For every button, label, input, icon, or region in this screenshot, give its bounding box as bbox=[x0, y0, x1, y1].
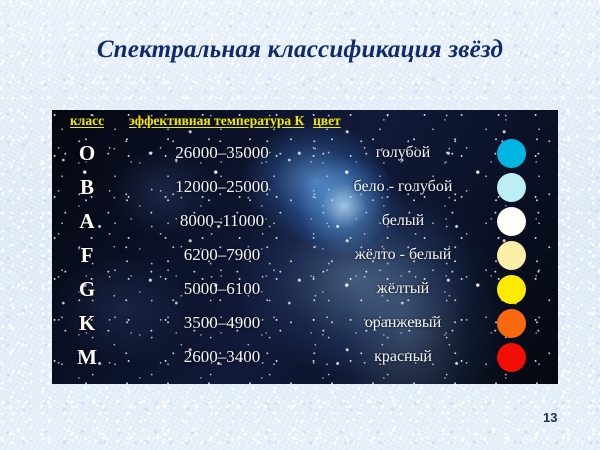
cell-class: K bbox=[52, 306, 122, 340]
spectral-classification-table: класс эффективная температура К цвет O 2… bbox=[52, 110, 558, 384]
cell-color-name: голубой bbox=[318, 136, 488, 170]
cell-temperature: 26000–35000 bbox=[122, 136, 322, 170]
cell-color-name: жёлтый bbox=[318, 272, 488, 306]
cell-color-name: оранжевый bbox=[318, 306, 488, 340]
cell-color-swatch bbox=[492, 340, 532, 374]
cell-color-swatch bbox=[492, 272, 532, 306]
table-row: F 6200–7900 жёлто - белый bbox=[52, 238, 558, 272]
color-swatch-circle bbox=[497, 241, 526, 270]
cell-temperature: 5000–6100 bbox=[122, 272, 322, 306]
cell-color-swatch bbox=[492, 136, 532, 170]
cell-class: M bbox=[52, 340, 122, 374]
header-color: цвет bbox=[313, 113, 341, 129]
cell-temperature: 6200–7900 bbox=[122, 238, 322, 272]
color-swatch-circle bbox=[497, 173, 526, 202]
color-swatch-circle bbox=[497, 139, 526, 168]
cell-temperature: 8000–11000 bbox=[122, 204, 322, 238]
color-swatch-circle bbox=[497, 207, 526, 236]
cell-color-swatch bbox=[492, 306, 532, 340]
table-row: A 8000–11000 белый bbox=[52, 204, 558, 238]
cell-temperature: 2600–3400 bbox=[122, 340, 322, 374]
cell-color-name: белый bbox=[318, 204, 488, 238]
table-row: G 5000–6100 жёлтый bbox=[52, 272, 558, 306]
table-row: M 2600–3400 красный bbox=[52, 340, 558, 374]
cell-class: A bbox=[52, 204, 122, 238]
page-number: 13 bbox=[543, 410, 557, 425]
table-row: O 26000–35000 голубой bbox=[52, 136, 558, 170]
table-row: B 12000–25000 бело - голубой bbox=[52, 170, 558, 204]
color-swatch-circle bbox=[497, 343, 526, 372]
cell-class: G bbox=[52, 272, 122, 306]
table-header-row: класс эффективная температура К цвет bbox=[52, 113, 558, 133]
cell-temperature: 12000–25000 bbox=[122, 170, 322, 204]
cell-color-swatch bbox=[492, 170, 532, 204]
cell-color-name: бело - голубой bbox=[318, 170, 488, 204]
cell-class: B bbox=[52, 170, 122, 204]
cell-class: F bbox=[52, 238, 122, 272]
starfield-table-panel: класс эффективная температура К цвет O 2… bbox=[52, 110, 558, 384]
cell-color-swatch bbox=[492, 238, 532, 272]
color-swatch-circle bbox=[497, 309, 526, 338]
header-class: класс bbox=[70, 113, 104, 129]
color-swatch-circle bbox=[497, 275, 526, 304]
cell-color-name: красный bbox=[318, 340, 488, 374]
cell-color-swatch bbox=[492, 204, 532, 238]
table-row: K 3500–4900 оранжевый bbox=[52, 306, 558, 340]
cell-class: O bbox=[52, 136, 122, 170]
cell-color-name: жёлто - белый bbox=[318, 238, 488, 272]
page-title: Спектральная классификация звёзд bbox=[0, 36, 600, 64]
cell-temperature: 3500–4900 bbox=[122, 306, 322, 340]
header-temperature: эффективная температура К bbox=[129, 113, 304, 129]
